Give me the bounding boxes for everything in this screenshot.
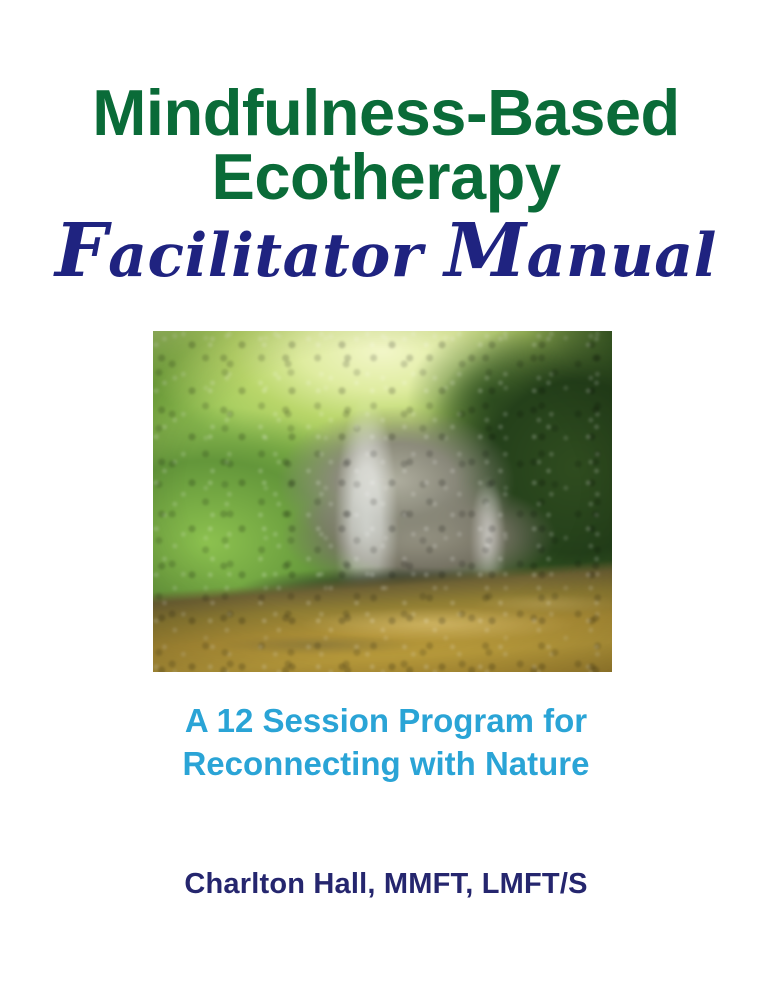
script-space <box>423 221 444 291</box>
cover-title: Mindfulness-Based Ecotherapy <box>0 82 772 209</box>
title-line-one: Mindfulness-Based <box>0 82 772 144</box>
script-subtitle: Facilitator Manual <box>0 222 772 286</box>
tagline-line-two: Reconnecting with Nature <box>0 743 772 786</box>
script-capital-f: F <box>55 208 108 294</box>
script-word-manual: anual <box>527 221 717 291</box>
waterfall-forest-photo <box>153 331 612 672</box>
author-name: Charlton Hall, MMFT, LMFT/S <box>0 868 772 901</box>
cover-tagline: A 12 Session Program for Reconnecting wi… <box>0 700 772 786</box>
script-word-facilitator: acilitator <box>108 221 423 291</box>
tagline-line-one: A 12 Session Program for <box>0 700 772 743</box>
book-cover: Mindfulness-Based Ecotherapy Facilitator… <box>0 0 772 1000</box>
title-line-two: Ecotherapy <box>0 146 772 208</box>
script-capital-m: M <box>444 208 526 294</box>
photo-vignette <box>153 331 612 672</box>
